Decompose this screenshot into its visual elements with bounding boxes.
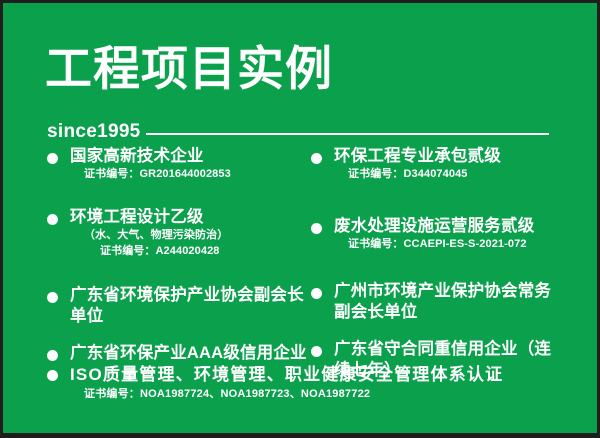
since-label: since1995 [47, 121, 141, 143]
bullet-dot-icon [47, 292, 58, 303]
credential-item: 广州市环境产业保护协会常务副会长单位 [311, 281, 563, 323]
credential-certificate-number: 证书编号：CCAEPI-ES-S-2021-072 [334, 237, 563, 253]
credential-certificate-number: 证书编号：GR201644002853 [70, 167, 309, 183]
credential-item: 广东省环保产业AAA级信用企业 [47, 343, 309, 364]
credentials-column-left: 国家高新技术企业 证书编号：GR201644002853 环境工程设计乙级 （水… [47, 146, 309, 366]
page-title: 工程项目实例 [45, 45, 333, 92]
credential-title: 环境工程设计乙级 [70, 207, 309, 228]
credential-title: ISO质量管理、环境管理、职业健康安全管理体系认证 [70, 365, 559, 385]
since-row: since1995 [47, 121, 549, 143]
company-credentials-poster: 工程项目实例 since1995 国家高新技术企业 证书编号：GR2016440… [0, 0, 600, 438]
bullet-dot-icon [47, 350, 58, 361]
bullet-dot-icon [311, 288, 322, 299]
credential-item: 广东省环境保护产业协会副会长单位 [47, 285, 309, 327]
credential-title: 废水处理设施运营服务贰级 [334, 216, 563, 237]
credential-title: 国家高新技术企业 [70, 146, 309, 167]
credentials-column-right: 环保工程专业承包贰级 证书编号：D344074045 废水处理设施运营服务贰级 … [311, 146, 563, 384]
bullet-dot-icon [47, 370, 58, 381]
horizontal-rule [146, 133, 549, 135]
credential-title: 广东省环保产业AAA级信用企业 [70, 343, 309, 364]
credential-certificate-number: 证书编号：NOA1987724、NOA1987723、NOA1987722 [70, 387, 559, 403]
bullet-dot-icon [311, 346, 322, 357]
credential-item: 废水处理设施运营服务贰级 证书编号：CCAEPI-ES-S-2021-072 [311, 216, 563, 253]
bullet-dot-icon [47, 153, 58, 164]
credential-certificate-number: 证书编号：D344074045 [334, 167, 563, 183]
bullet-dot-icon [47, 214, 58, 225]
credential-title: 广东省环境保护产业协会副会长单位 [70, 285, 309, 327]
credential-item: 环境工程设计乙级 （水、大气、物理污染防治） 证书编号：A244020428 [47, 207, 309, 260]
credential-title: 广州市环境产业保护协会常务副会长单位 [334, 281, 563, 323]
bullet-dot-icon [311, 223, 322, 234]
bullet-dot-icon [311, 153, 322, 164]
credential-certificate-number: 证书编号：A244020428 [70, 244, 309, 260]
credential-item: 环保工程专业承包贰级 证书编号：D344074045 [311, 146, 563, 183]
credential-item-iso: ISO质量管理、环境管理、职业健康安全管理体系认证 证书编号：NOA198772… [47, 365, 559, 402]
credential-item: 国家高新技术企业 证书编号：GR201644002853 [47, 146, 309, 183]
credential-scope: （水、大气、物理污染防治） [70, 228, 309, 244]
credential-title: 环保工程专业承包贰级 [334, 146, 563, 167]
